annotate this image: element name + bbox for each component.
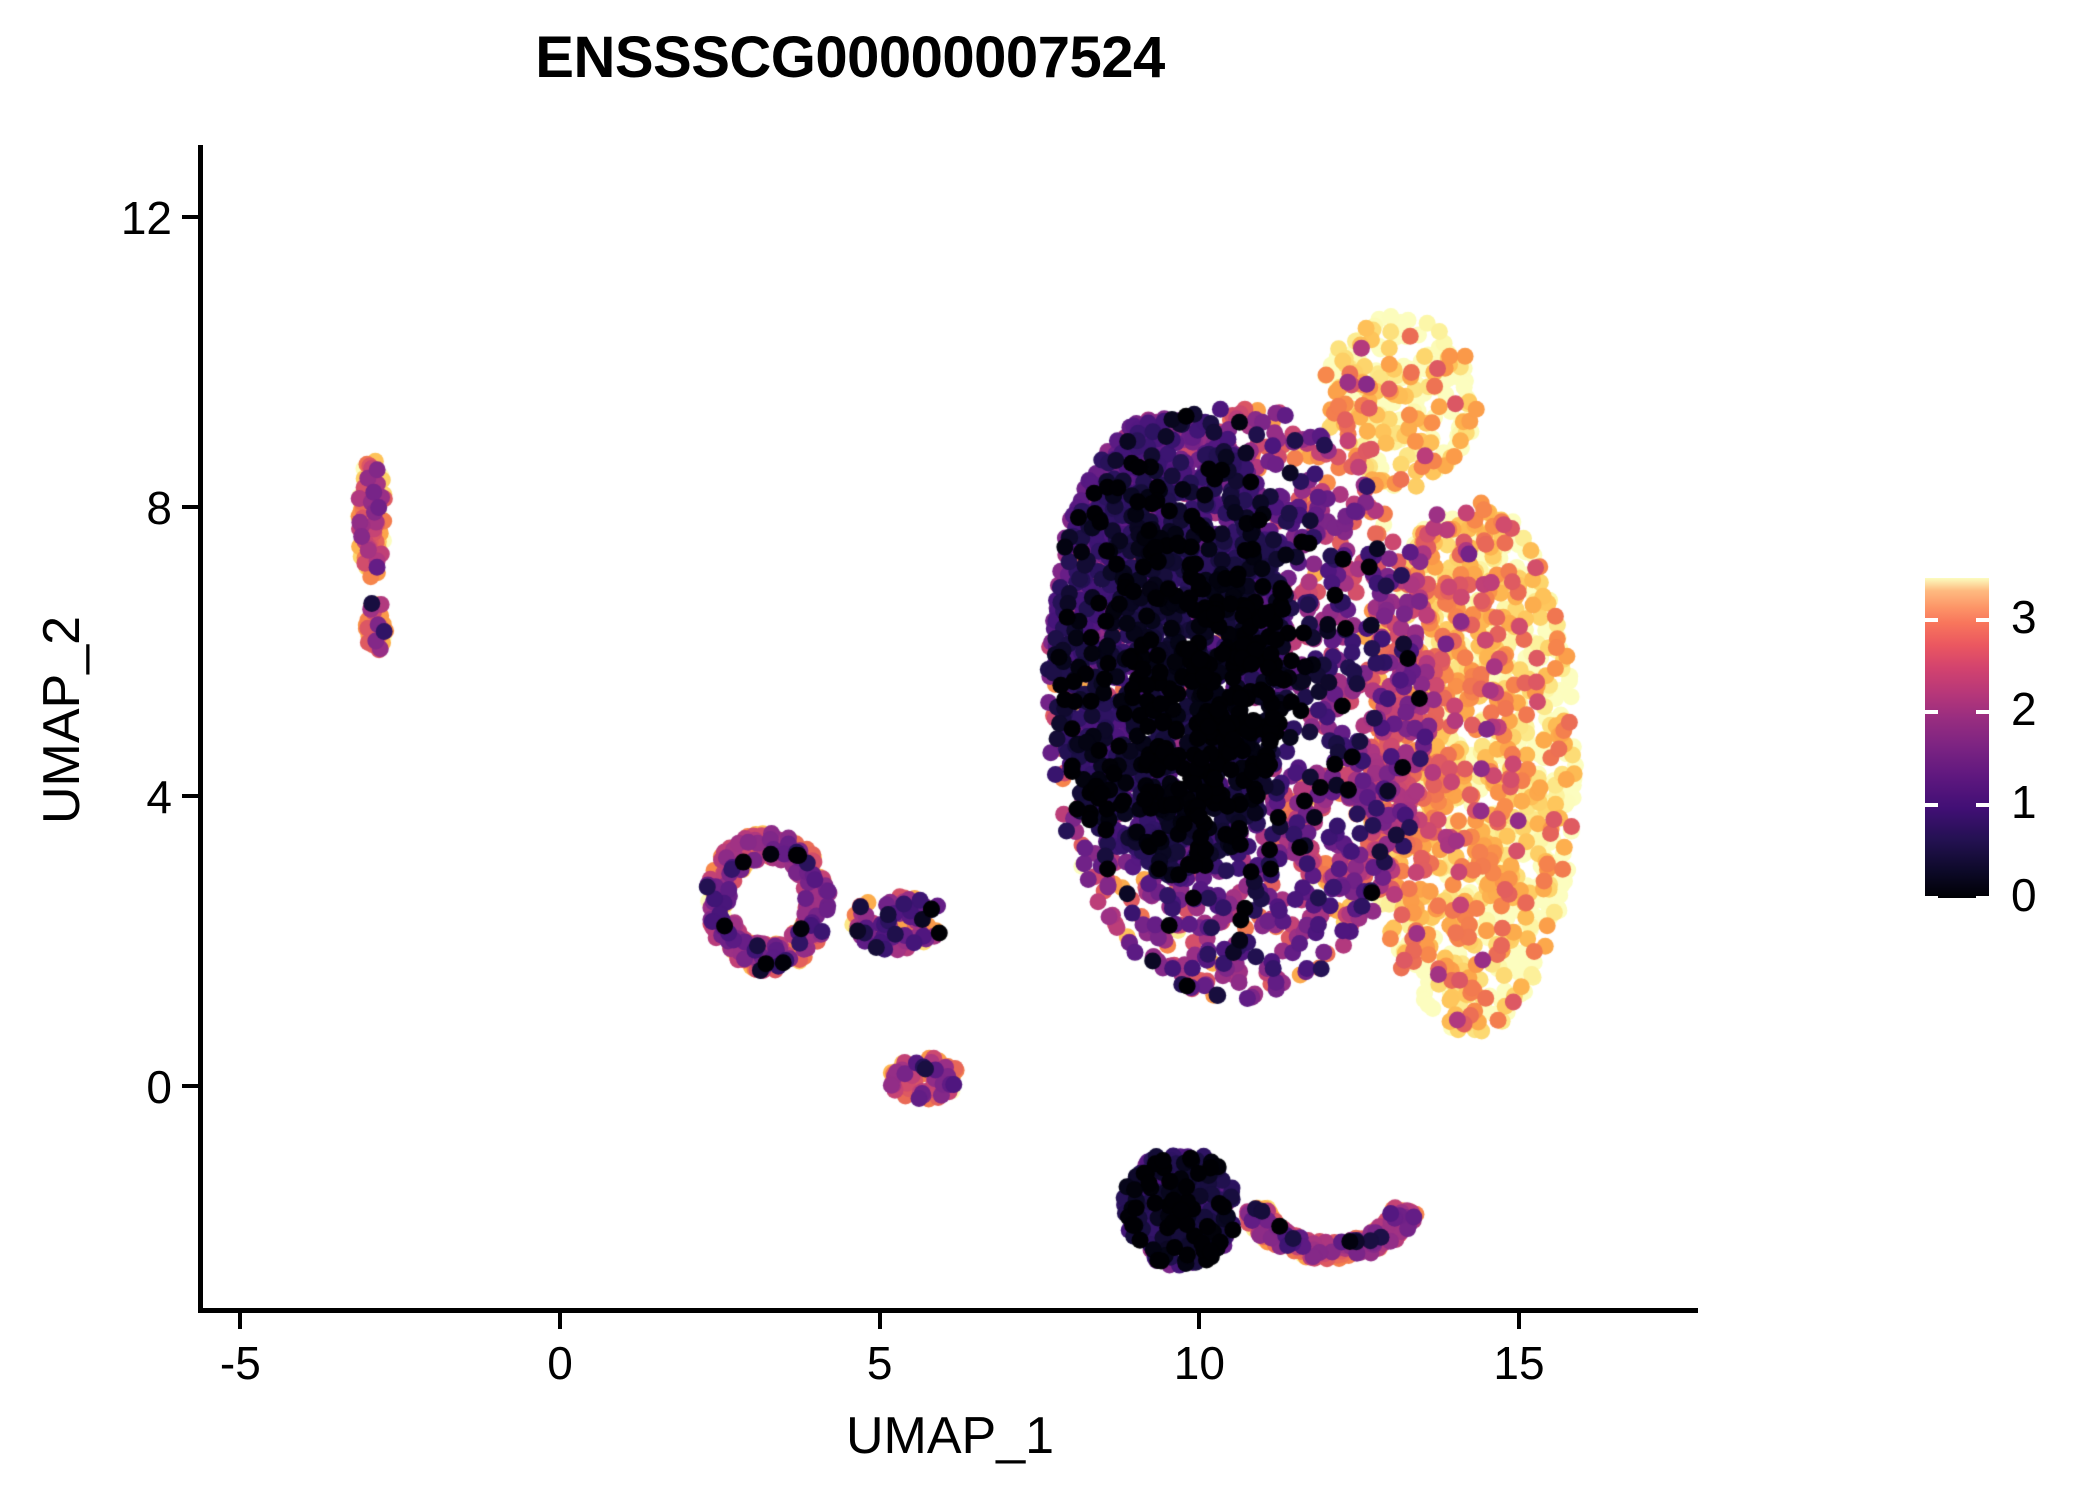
y-axis-line	[198, 145, 203, 1313]
colorbar-tick-1-right	[1976, 803, 1989, 807]
colorbar-label-2: 2	[2011, 686, 2037, 732]
y-tick-mark-8	[182, 505, 198, 509]
colorbar-label-3: 3	[2011, 594, 2037, 640]
x-tick-label-10: 10	[1119, 1336, 1279, 1390]
colorbar-tick-3-right	[1976, 618, 1989, 622]
colorbar-label-0: 0	[2011, 872, 2037, 918]
colorbar-tick-0-left	[1925, 896, 1938, 900]
x-axis-title: UMAP_1	[202, 1406, 1698, 1466]
y-tick-mark-0	[182, 1084, 198, 1088]
colorbar-legend: 3 2 1 0	[1925, 578, 2085, 908]
y-tick-mark-4	[182, 794, 198, 798]
colorbar-tick-1-left	[1925, 803, 1938, 807]
x-tick-label-15: 15	[1439, 1336, 1599, 1390]
colorbar-tick-3-left	[1925, 618, 1938, 622]
y-axis-title: UMAP_2	[32, 340, 92, 1100]
x-tick-label-0: 0	[480, 1336, 640, 1390]
feature-plot-figure: ENSSSCG00000007524 12 8 4 0 -5 0 5 10 15…	[0, 0, 2100, 1500]
x-tick-label-5: 5	[800, 1336, 960, 1390]
umap-scatter-canvas	[202, 145, 1698, 1310]
colorbar-tick-2-left	[1925, 710, 1938, 714]
colorbar-tick-0-right	[1976, 896, 1989, 900]
colorbar-gradient	[1925, 578, 1989, 898]
colorbar-tick-2-right	[1976, 710, 1989, 714]
x-axis-line	[198, 1308, 1698, 1313]
x-tick-mark-5	[878, 1313, 882, 1329]
y-tick-label-12: 12	[22, 191, 172, 245]
x-tick-label-neg5: -5	[160, 1336, 320, 1390]
x-tick-mark-0	[558, 1313, 562, 1329]
colorbar-label-1: 1	[2011, 779, 2037, 825]
x-tick-mark-15	[1517, 1313, 1521, 1329]
x-tick-mark-neg5	[238, 1313, 242, 1329]
page-title: ENSSSCG00000007524	[0, 24, 1700, 91]
x-tick-mark-10	[1197, 1313, 1201, 1329]
plot-panel	[202, 145, 1698, 1310]
y-tick-mark-12	[182, 215, 198, 219]
